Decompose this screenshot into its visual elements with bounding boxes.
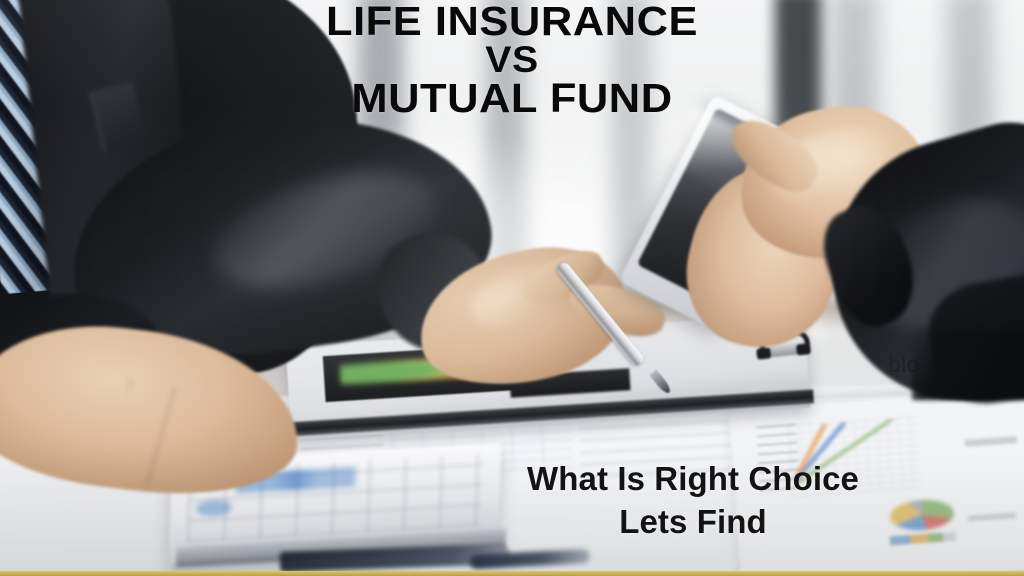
bottom-gold-border: [0, 571, 1024, 576]
clip-pin-right: [796, 343, 811, 355]
clip-pin-left: [756, 347, 771, 359]
blog-header-image: blo LIFE INSURANCE VS MUTUAL FUND What I…: [0, 0, 1024, 576]
report-line-chart: [788, 414, 923, 497]
document-rows-right: [579, 414, 732, 478]
